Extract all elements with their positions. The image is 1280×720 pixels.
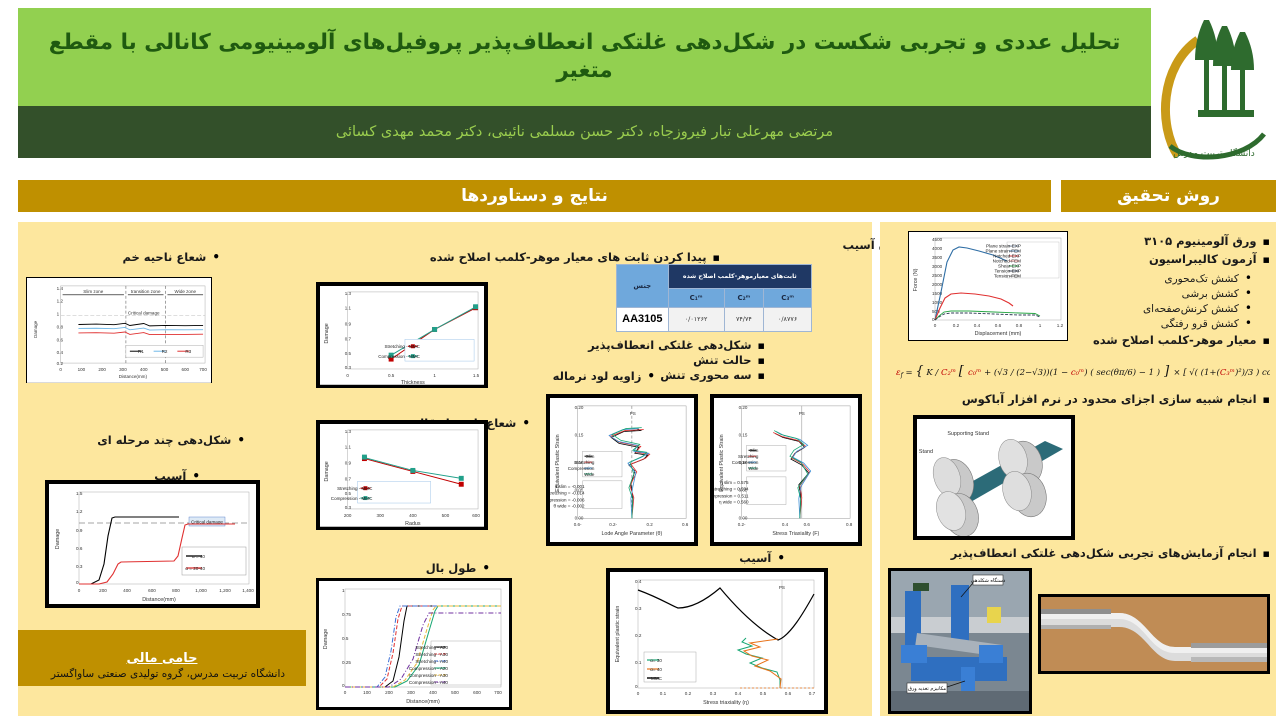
svg-text:400: 400 xyxy=(123,588,131,593)
svg-text:1,000: 1,000 xyxy=(195,588,207,593)
svg-text:0.8: 0.8 xyxy=(846,522,853,527)
svg-text:0.15: 0.15 xyxy=(575,432,584,437)
bullet-lode-angle: زاویه لود نرماله xyxy=(553,368,655,385)
svg-text:η stretching = 0.534: η stretching = 0.534 xyxy=(714,487,749,492)
svg-text:θ wide = -0.002: θ wide = -0.002 xyxy=(554,503,585,508)
svg-text:Stretching: Stretching xyxy=(574,460,595,465)
svg-text:0.4: 0.4 xyxy=(57,350,64,355)
chart-lode-angle: 0.20 0.15 0.10 0.05 0.00 -0.6 -0.2 0.2 0… xyxy=(546,394,698,546)
svg-text:1: 1 xyxy=(1039,323,1042,328)
svg-text:600: 600 xyxy=(181,367,189,372)
svg-text:1.3: 1.3 xyxy=(345,291,352,296)
svg-text:R2: R2 xyxy=(162,349,168,354)
svg-text:Tension-FEM: Tension-FEM xyxy=(994,274,1021,279)
svg-text:Distance(mm): Distance(mm) xyxy=(142,597,176,603)
svg-text:PS: PS xyxy=(779,585,785,590)
svg-text:0.8: 0.8 xyxy=(57,324,64,329)
svg-text:0.1: 0.1 xyxy=(660,691,667,696)
svg-text:Compression - MMC: Compression - MMC xyxy=(331,496,373,501)
bullet-notched-tension: کشش قرو رفتگی xyxy=(1161,315,1252,331)
section-header-method: روش تحقیق xyxy=(1061,180,1276,212)
bullet-flexible-roll-forming: شکل‌دهی غلتکی انعطاف‌پذیر xyxy=(588,338,765,354)
svg-text:0.4: 0.4 xyxy=(635,579,642,584)
svg-text:Wide: Wide xyxy=(748,466,759,471)
svg-text:200: 200 xyxy=(344,513,352,518)
svg-text:0.9: 0.9 xyxy=(345,461,352,466)
svg-text:transition zone: transition zone xyxy=(131,289,161,294)
svg-text:0: 0 xyxy=(637,691,640,696)
table-cell-c1: ۰/۰۱۲۶۲ xyxy=(668,307,724,331)
svg-text:0.4: 0.4 xyxy=(735,691,742,696)
svg-text:0: 0 xyxy=(344,690,347,695)
svg-text:Stretching - A30: Stretching - A30 xyxy=(415,652,448,657)
svg-text:100: 100 xyxy=(78,367,86,372)
svg-text:2500: 2500 xyxy=(932,273,943,278)
university-logo-icon: دانشگاه تربیت مدرس xyxy=(1152,6,1276,164)
fem-roll-forming-model: Forming Stand Supporting Stand xyxy=(913,415,1075,540)
svg-text:800: 800 xyxy=(172,588,180,593)
svg-text:0: 0 xyxy=(342,683,345,688)
svg-text:Damage: Damage xyxy=(55,529,61,549)
svg-text:0: 0 xyxy=(76,580,79,585)
table-row: ۰/۸۷۷۶ ۷۴/۷۴ ۰/۰۱۲۶۲ AA3105 xyxy=(617,307,812,331)
mmc-formula: εf = { K / C₂ᵐ [ c₀ᵐ + (√3 / (2−√3))(1 −… xyxy=(892,358,1270,388)
svg-text:700: 700 xyxy=(199,367,207,372)
bullet-fem-abaqus: انجام شبیه سازی اجزای محدود در نرم افزار… xyxy=(962,392,1270,408)
svg-text:1.1: 1.1 xyxy=(345,306,352,311)
svg-text:θ slim = -0.001: θ slim = -0.001 xyxy=(555,484,585,489)
svg-text:300: 300 xyxy=(407,690,415,695)
svg-text:0.7: 0.7 xyxy=(809,691,816,696)
section-header-results: نتایج و دستاوردها xyxy=(18,180,1051,212)
svg-text:0: 0 xyxy=(635,684,638,689)
svg-text:3500: 3500 xyxy=(932,255,943,260)
page-title: تحلیل عددی و تجربی شکست در شکل‌دهی غلتکی… xyxy=(32,29,1137,84)
sponsor-title: حامی مالی xyxy=(127,651,198,666)
svg-text:Stretching - MMC: Stretching - MMC xyxy=(337,486,373,491)
author-list: مرتضی مهرعلی تبار فیروزجاه، دکتر حسن مسل… xyxy=(336,124,833,140)
photo-label-feed: مکانیزم تغذیه ورق xyxy=(908,686,946,692)
svg-text:PS: PS xyxy=(799,411,805,416)
svg-text:1: 1 xyxy=(342,588,345,593)
svg-text:1000: 1000 xyxy=(932,300,943,305)
svg-text:0.25: 0.25 xyxy=(342,660,351,665)
svg-text:4000: 4000 xyxy=(932,246,943,251)
svg-text:0.2: 0.2 xyxy=(646,522,653,527)
svg-text:α = 20-40: α = 20-40 xyxy=(185,566,205,571)
svg-text:300: 300 xyxy=(377,513,385,518)
svg-text:Wide: Wide xyxy=(584,472,595,477)
bullet-shear-tension: کشش برشی xyxy=(1182,285,1252,301)
bullet-plane-strain-tension: کشش کرنش‌صفحه‌ای xyxy=(1143,300,1252,316)
bullet-experiments: انجام آزمایش‌های تجربی شکل‌دهی غلتکی انع… xyxy=(951,546,1270,562)
table-cell-material: AA3105 xyxy=(617,307,669,331)
svg-text:0.00: 0.00 xyxy=(739,515,748,520)
svg-text:600: 600 xyxy=(473,690,481,695)
bullet-calibration-test: آزمون کالیبراسیون xyxy=(1149,252,1270,268)
svg-text:600: 600 xyxy=(472,513,480,518)
svg-text:0.2: 0.2 xyxy=(953,323,960,328)
svg-text:η slim = 0.575: η slim = 0.575 xyxy=(720,480,749,485)
svg-text:0.9: 0.9 xyxy=(345,322,352,327)
svg-text:Force (N): Force (N) xyxy=(913,268,919,291)
bullet-stress-state: حالت تنش xyxy=(693,353,765,369)
svg-text:η wide = 0.560: η wide = 0.560 xyxy=(719,500,749,505)
svg-text:0.00: 0.00 xyxy=(575,515,584,520)
mmc-constants-table: ثابت‌های معیارموهر-کلمب اصلاح شده جنس C₃… xyxy=(616,264,812,332)
svg-text:MMC: MMC xyxy=(651,676,663,681)
svg-text:200: 200 xyxy=(99,588,107,593)
table-cell-c2: ۷۴/۷۴ xyxy=(724,307,764,331)
logo-text: دانشگاه تربیت مدرس xyxy=(1173,147,1255,159)
chart-bend-zone-damage: 1.4 1.2 1 0.8 0.6 0.4 0.2 0 100 200 300 … xyxy=(26,277,212,383)
svg-text:1.3: 1.3 xyxy=(345,429,352,434)
svg-text:1.2: 1.2 xyxy=(1057,323,1064,328)
svg-text:Lode Angle Parameter (θ): Lode Angle Parameter (θ) xyxy=(601,531,662,537)
chart-stress-triaxiality: 0.20 0.15 0.10 0.05 0.00 -0.2 0.4 0.6 0.… xyxy=(710,394,862,546)
svg-text:1.1: 1.1 xyxy=(345,445,352,450)
chart-transition-radius-damage: 1.3 1.1 0.9 0.7 0.5 0.3 200 300 400 500 … xyxy=(316,420,488,530)
bullet-damage-2: آسیب xyxy=(739,550,785,567)
svg-text:600: 600 xyxy=(148,588,156,593)
svg-text:α= 40: α= 40 xyxy=(650,667,662,672)
table-cell-c3: ۰/۸۷۷۶ xyxy=(764,307,812,331)
svg-text:200: 200 xyxy=(98,367,106,372)
svg-text:0.5: 0.5 xyxy=(342,636,349,641)
svg-text:0.15: 0.15 xyxy=(739,432,748,437)
svg-text:Equivalent plastic strain: Equivalent plastic strain xyxy=(615,606,621,663)
svg-text:Slim: Slim xyxy=(586,454,595,459)
svg-text:R1: R1 xyxy=(138,349,144,354)
svg-text:100: 100 xyxy=(363,690,371,695)
svg-text:500: 500 xyxy=(161,367,169,372)
svg-text:0.2: 0.2 xyxy=(685,691,692,696)
svg-text:Wide zone: Wide zone xyxy=(175,289,197,294)
svg-text:0.5: 0.5 xyxy=(760,691,767,696)
svg-text:700: 700 xyxy=(494,690,502,695)
svg-text:PS: PS xyxy=(630,411,636,416)
svg-text:Compression - MMC: Compression - MMC xyxy=(378,354,420,359)
bullet-flange-length: طول بال xyxy=(426,560,490,577)
svg-text:400: 400 xyxy=(140,367,148,372)
svg-text:0.6: 0.6 xyxy=(995,323,1002,328)
svg-text:0.1: 0.1 xyxy=(635,660,642,665)
sponsor-text: دانشگاه تربیت مدرس، گروه تولیدی صنعتی سا… xyxy=(18,668,318,680)
svg-text:0.6: 0.6 xyxy=(785,691,792,696)
svg-text:0.8: 0.8 xyxy=(1016,323,1023,328)
svg-text:0.5: 0.5 xyxy=(345,351,352,356)
chart-mmc-fracture-locus: 0.4 0.3 0.2 0.1 0 0 0.1 0.2 0.3 0.4 0.5 … xyxy=(606,568,828,714)
svg-text:Damage: Damage xyxy=(324,323,330,343)
svg-text:Displacement (mm): Displacement (mm) xyxy=(975,331,1022,337)
svg-text:-0.6: -0.6 xyxy=(574,522,582,527)
svg-text:0: 0 xyxy=(934,323,937,328)
poster-author-bar: مرتضی مهرعلی تبار فیروزجاه، دکتر حسن مسل… xyxy=(18,106,1151,158)
svg-text:1.5: 1.5 xyxy=(76,491,83,496)
table-header-group: ثابت‌های معیارموهر-کلمب اصلاح شده xyxy=(668,265,811,289)
poster-header: تحلیل عددی و تجربی شکست در شکل‌دهی غلتکی… xyxy=(0,0,1280,172)
svg-text:0.3: 0.3 xyxy=(345,505,352,510)
svg-text:1.5: 1.5 xyxy=(473,373,480,378)
bullet-multistage: شکل‌دهی چند مرحله ای xyxy=(97,432,245,449)
bullet-bend-radius: شعاع ناحیه خم xyxy=(122,249,220,266)
svg-text:η compression = 0.511: η compression = 0.511 xyxy=(714,494,749,499)
label-forming-stand: Forming Stand xyxy=(917,449,933,455)
svg-text:Distance(mm): Distance(mm) xyxy=(119,374,148,379)
svg-text:0.20: 0.20 xyxy=(739,405,748,410)
svg-text:Thickness: Thickness xyxy=(401,380,425,385)
svg-text:Compression: Compression xyxy=(568,466,595,471)
svg-text:0.3: 0.3 xyxy=(710,691,717,696)
svg-text:400: 400 xyxy=(409,513,417,518)
svg-text:-0.2: -0.2 xyxy=(738,522,746,527)
svg-text:4500: 4500 xyxy=(932,237,943,242)
photo-formed-part xyxy=(1038,594,1270,674)
svg-text:0.4: 0.4 xyxy=(782,522,789,527)
svg-text:2000: 2000 xyxy=(932,282,943,287)
svg-text:Stretching - A20: Stretching - A20 xyxy=(415,645,448,650)
svg-text:1.2: 1.2 xyxy=(57,299,64,304)
svg-text:3000: 3000 xyxy=(932,264,943,269)
svg-text:α= 30: α= 30 xyxy=(650,658,662,663)
svg-text:Stretching - MMC: Stretching - MMC xyxy=(385,344,421,349)
svg-text:Damage: Damage xyxy=(323,629,329,649)
chart-thickness-damage: 1.3 1.1 0.9 0.7 0.5 0.3 0 0.5 1 1.5 Thic… xyxy=(316,282,488,388)
svg-text:0: 0 xyxy=(78,588,81,593)
svg-text:-0.2: -0.2 xyxy=(609,522,617,527)
svg-text:500: 500 xyxy=(451,690,459,695)
svg-text:0.20: 0.20 xyxy=(575,405,584,410)
svg-text:0.2: 0.2 xyxy=(57,361,64,366)
svg-text:300: 300 xyxy=(119,367,127,372)
poster-title-bar: تحلیل عددی و تجربی شکست در شکل‌دهی غلتکی… xyxy=(18,8,1151,106)
svg-text:Compression - A30: Compression - A30 xyxy=(409,673,449,678)
svg-text:εf = { K / C: εf = { K / C₂ᵐ [ c₀ᵐ + (√3 / (2−√3))(1 −… xyxy=(896,364,1270,379)
bullet-mmc-criterion: معیار موهر-کلمب اصلاح شده xyxy=(1093,333,1270,349)
svg-text:Stretching - A40: Stretching - A40 xyxy=(415,659,448,664)
svg-text:1.4: 1.4 xyxy=(57,286,64,291)
svg-text:Radus: Radus xyxy=(405,521,421,527)
svg-text:Compression - A20: Compression - A20 xyxy=(409,666,449,671)
svg-text:0.75: 0.75 xyxy=(342,612,351,617)
svg-text:0.5: 0.5 xyxy=(388,373,395,378)
svg-text:Damage: Damage xyxy=(33,320,38,338)
svg-text:θ compression = -0.006: θ compression = -0.006 xyxy=(550,498,585,503)
svg-text:1,400: 1,400 xyxy=(242,588,254,593)
bullet-uniaxial-tension: کشش تک‌محوری xyxy=(1164,270,1252,286)
svg-text:0.9: 0.9 xyxy=(76,528,83,533)
svg-text:Distance(mm): Distance(mm) xyxy=(406,699,440,705)
svg-text:500: 500 xyxy=(442,513,450,518)
svg-text:0.4: 0.4 xyxy=(974,323,981,328)
svg-text:0.6: 0.6 xyxy=(682,522,689,527)
table-col-c1: C₁ᵐ xyxy=(668,289,724,307)
svg-text:0.2: 0.2 xyxy=(635,633,642,638)
svg-text:θ stretching = -0.014: θ stretching = -0.014 xyxy=(550,491,585,496)
svg-text:200: 200 xyxy=(385,690,393,695)
svg-text:Compression - A40: Compression - A40 xyxy=(409,680,449,685)
chart-multistage-damage: 1.5 1.2 0.9 0.6 0.3 0 0 200 400 600 800 … xyxy=(45,480,260,608)
svg-text:0.7: 0.7 xyxy=(345,476,352,481)
table-header-material: جنس xyxy=(617,265,669,308)
label-supporting-stand: Supporting Stand xyxy=(947,431,989,437)
svg-text:0.3: 0.3 xyxy=(345,365,352,370)
table-col-c2: C₂ᵐ xyxy=(724,289,764,307)
svg-text:1.2: 1.2 xyxy=(76,509,83,514)
svg-text:Slim zone: Slim zone xyxy=(83,289,103,294)
photo-label-machine: دستگاه شکلدهی xyxy=(971,577,1005,584)
svg-text:0.6: 0.6 xyxy=(804,522,811,527)
svg-text:Slim: Slim xyxy=(750,448,759,453)
svg-text:Stress Triaxiality (F): Stress Triaxiality (F) xyxy=(772,531,819,537)
poster-root: تحلیل عددی و تجربی شکست در شکل‌دهی غلتکی… xyxy=(0,0,1280,720)
svg-text:400: 400 xyxy=(429,690,437,695)
svg-text:0.3: 0.3 xyxy=(635,606,642,611)
svg-text:1,200: 1,200 xyxy=(219,588,231,593)
svg-text:Stretching: Stretching xyxy=(738,454,759,459)
svg-text:0.6: 0.6 xyxy=(57,337,64,342)
chart-flange-length-damage: 1 0.75 0.5 0.25 0 0 100 200 300 400 500 … xyxy=(316,578,512,710)
bullet-triaxiality: سه محوری تنش xyxy=(660,368,765,384)
photo-forming-machine: دستگاه شکلدهی مکانیزم تغذیه ورق xyxy=(888,568,1032,714)
svg-text:0.6: 0.6 xyxy=(76,546,83,551)
svg-text:0.3: 0.3 xyxy=(76,564,83,569)
svg-text:0.7: 0.7 xyxy=(345,336,352,341)
svg-text:Stress triaxiality (η): Stress triaxiality (η) xyxy=(703,700,749,706)
chart-calibration-force-displacement: 4500 4000 3500 3000 2500 2000 1500 1000 … xyxy=(908,231,1068,341)
bullet-aluminum-sheet: ورق آلومینیوم ۳۱۰۵ xyxy=(1144,234,1270,250)
svg-text:Damage: Damage xyxy=(324,461,330,481)
svg-text:Critical damage: Critical damage xyxy=(128,311,160,316)
svg-text:Compression: Compression xyxy=(732,460,759,465)
svg-text:R3: R3 xyxy=(185,349,191,354)
svg-text:α = 40: α = 40 xyxy=(192,554,205,559)
table-col-c3: C₃ᵐ xyxy=(764,289,812,307)
